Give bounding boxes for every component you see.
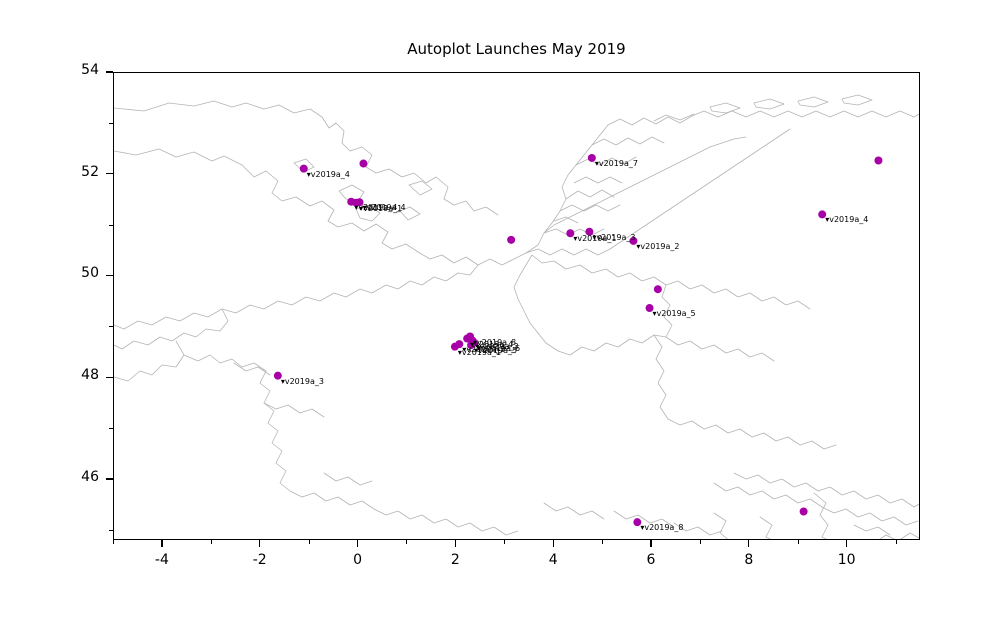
y-axis-tick-label: 46	[51, 469, 99, 485]
data-point-label: ▾v2019a_5	[653, 309, 696, 318]
y-axis-tick	[106, 478, 113, 479]
data-points-layer	[114, 73, 920, 540]
x-axis-minor-tick	[504, 540, 505, 544]
x-axis-tick-label: 8	[719, 552, 779, 568]
y-axis-tick-label: 54	[51, 62, 99, 78]
y-axis-tick-label: 52	[51, 164, 99, 180]
data-point-label: ▾v2019a_4	[363, 203, 406, 212]
x-axis-tick-label: 2	[425, 552, 485, 568]
y-axis-minor-tick	[109, 530, 113, 531]
x-axis-tick-label: -4	[132, 552, 192, 568]
data-point-marker[interactable]	[874, 157, 882, 165]
x-axis-tick	[650, 540, 651, 547]
x-axis-tick	[553, 540, 554, 547]
x-axis-tick	[259, 540, 260, 547]
data-point-label: ▾v2019a_8	[640, 523, 683, 532]
y-axis-minor-tick	[109, 123, 113, 124]
data-point-label: ▾v2019a_3	[592, 233, 635, 242]
x-axis-minor-tick	[798, 540, 799, 544]
x-axis-minor-tick	[309, 540, 310, 544]
x-axis-minor-tick	[896, 540, 897, 544]
x-axis-minor-tick	[700, 540, 701, 544]
x-axis-tick	[161, 540, 162, 547]
y-axis-minor-tick	[109, 225, 113, 226]
y-axis-tick	[106, 71, 113, 72]
y-axis-tick	[106, 377, 113, 378]
x-axis-tick-label: 0	[328, 552, 388, 568]
y-axis-tick	[106, 173, 113, 174]
y-axis-minor-tick	[109, 428, 113, 429]
x-axis-minor-tick	[211, 540, 212, 544]
x-axis-minor-tick	[406, 540, 407, 544]
data-point-label: ▾v2019a_7	[595, 159, 638, 168]
data-point-label: ▾v2019a_4	[825, 215, 868, 224]
data-point-label: ▾v2019a_4	[307, 170, 350, 179]
x-axis-tick	[748, 540, 749, 547]
y-axis-minor-tick	[109, 326, 113, 327]
x-axis-tick-label: -2	[230, 552, 290, 568]
data-point-marker[interactable]	[654, 285, 662, 293]
data-point-marker[interactable]	[507, 236, 515, 244]
x-axis-tick	[846, 540, 847, 547]
x-axis-tick-label: 6	[621, 552, 681, 568]
x-axis-tick	[357, 540, 358, 547]
data-point-label: ▾v2019a_3	[281, 377, 324, 386]
data-point-label: ▾v2019a_2	[636, 242, 679, 251]
figure-canvas: Autoplot Launches May 2019	[0, 0, 1003, 633]
data-point-marker[interactable]	[359, 160, 367, 168]
page-title: Autoplot Launches May 2019	[113, 40, 920, 58]
y-axis-tick-label: 50	[51, 265, 99, 281]
x-axis-minor-tick	[113, 540, 114, 544]
x-axis-tick-label: 10	[817, 552, 877, 568]
data-point-label: ▾v2019a_5	[474, 346, 517, 355]
x-axis-minor-tick	[602, 540, 603, 544]
x-axis-tick-label: 4	[523, 552, 583, 568]
x-axis-tick	[455, 540, 456, 547]
plot-area[interactable]: ▾v2019a_4▾v2019a_4▾v2019a_1▾v2019a_4▾v20…	[113, 72, 920, 540]
y-axis-tick-label: 48	[51, 367, 99, 383]
y-axis-tick	[106, 275, 113, 276]
data-point-marker[interactable]	[800, 508, 808, 516]
